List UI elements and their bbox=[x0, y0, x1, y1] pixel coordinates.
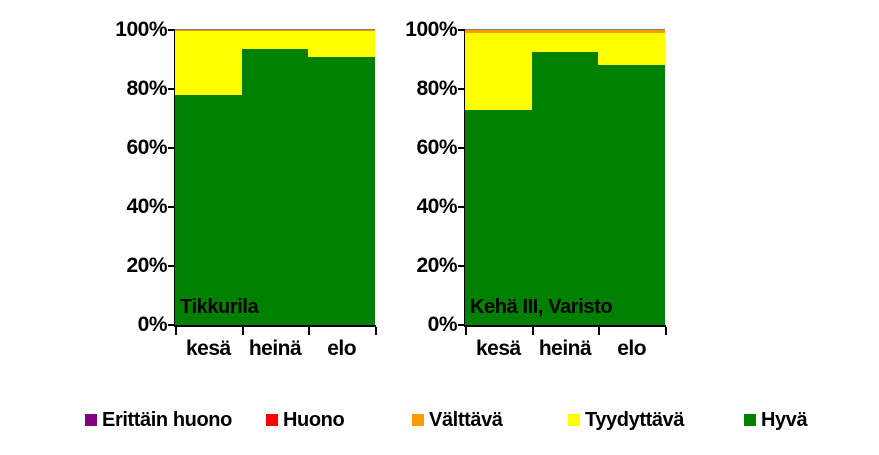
x-axis-tick-mark bbox=[308, 327, 310, 335]
x-axis-tick-label: elo bbox=[587, 338, 677, 359]
stack-segment bbox=[308, 57, 375, 325]
y-axis-tick-mark bbox=[458, 265, 465, 267]
y-axis-tick-mark bbox=[168, 206, 175, 208]
legend-item[interactable]: Huono bbox=[266, 405, 344, 435]
legend-label: Erittäin huono bbox=[102, 410, 232, 430]
stacked-column bbox=[175, 30, 242, 325]
y-axis-tick-mark bbox=[168, 147, 175, 149]
x-axis-tick-mark bbox=[532, 327, 534, 335]
y-axis-tick-label: 20% bbox=[387, 255, 457, 276]
x-axis-tick-mark bbox=[375, 327, 377, 335]
x-axis-tick-mark bbox=[242, 327, 244, 335]
stack-segment bbox=[465, 33, 532, 110]
chart-panel-tikkurila: 0%20%40%60%80%100% kesäheinäelo Tikkuril… bbox=[100, 0, 400, 372]
stacked-column bbox=[308, 30, 375, 325]
y-axis-tick-label: 100% bbox=[97, 19, 167, 40]
x-axis-line-1 bbox=[464, 325, 666, 327]
x-axis-tick-mark bbox=[175, 327, 177, 335]
y-axis-tick-label: 0% bbox=[97, 314, 167, 335]
stack-segment bbox=[532, 30, 599, 33]
stack-segment bbox=[465, 30, 532, 33]
y-axis-tick-label: 80% bbox=[97, 78, 167, 99]
legend-swatch-icon bbox=[85, 414, 97, 426]
y-axis-tick-label: 60% bbox=[97, 137, 167, 158]
stack-segment bbox=[598, 30, 665, 33]
y-axis-tick-label: 60% bbox=[387, 137, 457, 158]
stack-segment bbox=[242, 49, 309, 325]
y-axis-tick-mark bbox=[458, 147, 465, 149]
stack-segment bbox=[598, 33, 665, 65]
legend-label: Välttävä bbox=[429, 410, 503, 430]
stack-segment bbox=[242, 30, 309, 31]
x-axis-tick-mark bbox=[598, 327, 600, 335]
panel-label-1: Kehä III, Varisto bbox=[470, 297, 612, 317]
legend-label: Huono bbox=[283, 410, 344, 430]
y-axis-tick-mark bbox=[168, 265, 175, 267]
y-axis-tick-label: 40% bbox=[387, 196, 457, 217]
y-axis-tick-mark bbox=[168, 88, 175, 90]
stacked-column bbox=[598, 30, 665, 325]
x-axis-line-0 bbox=[174, 325, 376, 327]
stack-segment bbox=[465, 110, 532, 325]
legend-swatch-icon bbox=[744, 414, 756, 426]
stack-segment bbox=[175, 95, 242, 325]
legend-item[interactable]: Tyydyttävä bbox=[568, 405, 684, 435]
chart-panel-keha-iii-varisto: 0%20%40%60%80%100% kesäheinäelo Kehä III… bbox=[390, 0, 690, 372]
stack-segment bbox=[175, 31, 242, 95]
stack-segment bbox=[598, 65, 665, 325]
stack-segment bbox=[532, 52, 599, 325]
x-axis-tick-mark bbox=[465, 327, 467, 335]
legend-item[interactable]: Erittäin huono bbox=[85, 405, 232, 435]
y-axis-tick-mark bbox=[168, 29, 175, 31]
y-axis-tick-label: 40% bbox=[97, 196, 167, 217]
stack-segment bbox=[242, 31, 309, 49]
stacked-bar-chart-figure: 0%20%40%60%80%100% kesäheinäelo Tikkuril… bbox=[0, 0, 879, 455]
y-axis-tick-label: 20% bbox=[97, 255, 167, 276]
x-axis-tick-label: elo bbox=[297, 338, 387, 359]
y-axis-tick-label: 0% bbox=[387, 314, 457, 335]
stack-segment bbox=[308, 30, 375, 31]
legend-label: Tyydyttävä bbox=[585, 410, 684, 430]
legend-swatch-icon bbox=[266, 414, 278, 426]
x-axis-tick-mark bbox=[665, 327, 667, 335]
stack-segment bbox=[175, 30, 242, 31]
panel-label-0: Tikkurila bbox=[180, 297, 258, 317]
legend-swatch-icon bbox=[568, 414, 580, 426]
legend-swatch-icon bbox=[412, 414, 424, 426]
y-axis-tick-label: 100% bbox=[387, 19, 457, 40]
legend-item[interactable]: Hyvä bbox=[744, 405, 807, 435]
chart-legend: Erittäin huonoHuonoVälttäväTyydyttäväHyv… bbox=[0, 405, 879, 439]
stack-segment bbox=[532, 33, 599, 52]
legend-item[interactable]: Välttävä bbox=[412, 405, 503, 435]
stack-segment bbox=[308, 31, 375, 56]
stacked-column bbox=[465, 30, 532, 325]
y-axis-tick-mark bbox=[458, 88, 465, 90]
y-axis-tick-mark bbox=[458, 29, 465, 31]
legend-label: Hyvä bbox=[761, 410, 807, 430]
y-axis-tick-mark bbox=[458, 206, 465, 208]
stacked-column bbox=[242, 30, 309, 325]
y-axis-tick-label: 80% bbox=[387, 78, 457, 99]
stacked-column bbox=[532, 30, 599, 325]
